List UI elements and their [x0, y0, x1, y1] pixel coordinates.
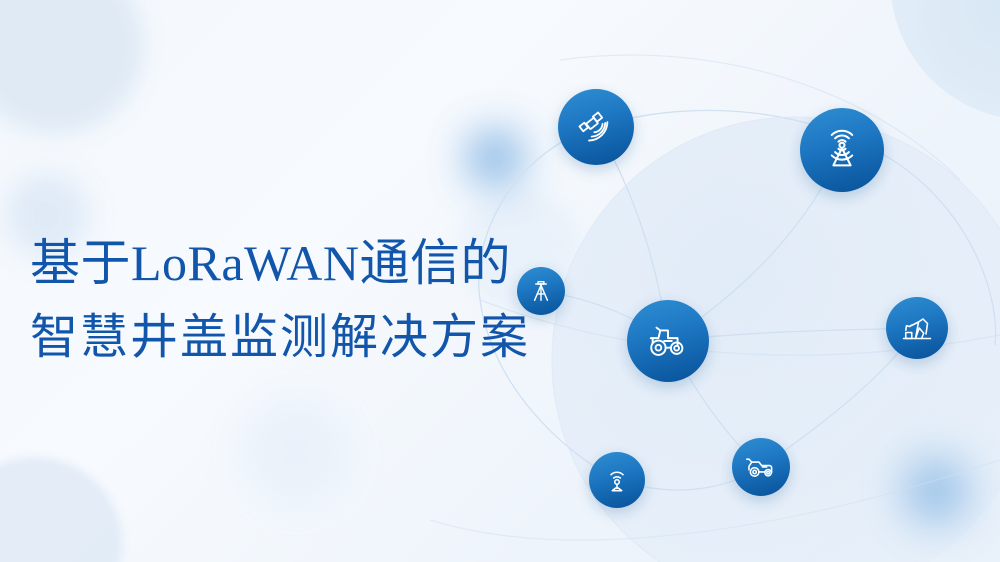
decor-soft-circle-middle	[241, 397, 351, 507]
wireless-sensor-icon	[601, 464, 633, 496]
oil-pump-jack-icon	[899, 310, 935, 346]
harvester-vehicle-icon	[744, 450, 778, 484]
node-survey-tripod[interactable]	[517, 267, 565, 315]
title-line-2: 智慧井盖监测解决方案	[30, 300, 590, 374]
decor-soft-circle-top-left	[0, 0, 145, 135]
node-wireless-sensor[interactable]	[589, 452, 645, 508]
decor-accent-blob-right	[908, 463, 964, 519]
node-tractor[interactable]	[627, 300, 709, 382]
tractor-icon	[645, 318, 691, 364]
presentation-cover-slide: 基于LoRaWAN通信的 智慧井盖监测解决方案	[0, 0, 1000, 562]
node-satellite[interactable]	[558, 89, 634, 165]
node-radio-tower[interactable]	[800, 108, 884, 192]
decor-globe-corner	[890, 0, 1000, 120]
decor-accent-blob-left	[469, 132, 521, 184]
page-title: 基于LoRaWAN通信的 智慧井盖监测解决方案	[30, 226, 590, 374]
radio-tower-icon	[819, 127, 865, 173]
satellite-signal-icon	[575, 106, 617, 148]
survey-tripod-icon	[527, 277, 555, 305]
decor-soft-circle-bottom-left	[0, 457, 123, 562]
node-oil-pump[interactable]	[886, 297, 948, 359]
title-line-1: 基于LoRaWAN通信的	[30, 226, 590, 300]
node-harvester[interactable]	[732, 438, 790, 496]
